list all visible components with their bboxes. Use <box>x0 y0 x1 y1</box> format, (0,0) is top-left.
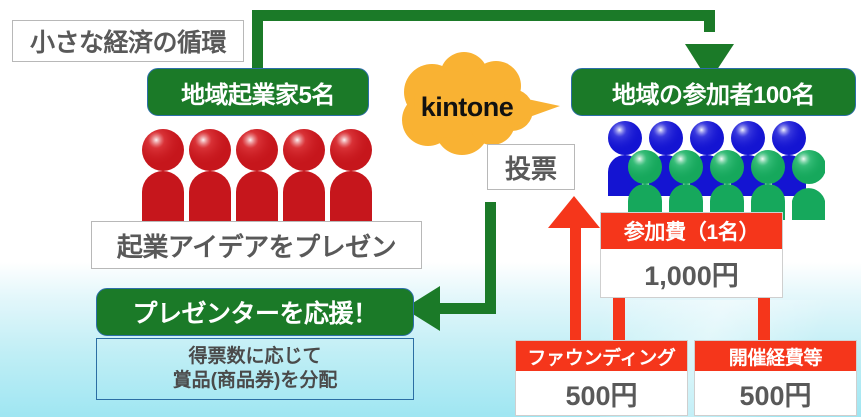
operating-cost-value: 500円 <box>739 374 811 413</box>
person-icon <box>330 129 372 223</box>
flow-arrow-top-horizontal <box>252 10 715 21</box>
prize-line-1: 得票数に応じて <box>188 345 321 369</box>
entry-fee-body: 1,000円 <box>601 249 782 297</box>
people-group-participants <box>607 120 825 220</box>
funding-card: ファウンディング 500円 <box>515 340 688 416</box>
node-entrepreneurs-label: 地域起業家5名 <box>181 75 335 110</box>
pitch-label: 起業アイデアをプレゼン <box>117 227 396 264</box>
funding-body: 500円 <box>516 371 687 415</box>
fee-split-connector-left <box>613 298 625 343</box>
funding-arrow-shaft <box>570 220 581 346</box>
vote-arrow-horizontal <box>432 303 496 314</box>
diagram-title-box: 小さな経済の循環 <box>12 20 244 62</box>
fee-split-connector-right <box>758 298 770 343</box>
node-participants-label: 地域の参加者100名 <box>612 75 815 110</box>
funding-header-label: ファウンディング <box>527 343 675 370</box>
vote-label: 投票 <box>505 149 557 186</box>
operating-cost-header: 開催経費等 <box>695 341 856 371</box>
people-group-entrepreneurs <box>140 128 375 223</box>
prize-line-2: 賞品(商品券)を分配 <box>173 369 338 393</box>
entry-fee-value: 1,000円 <box>644 254 739 293</box>
operating-cost-card: 開催経費等 500円 <box>694 340 857 416</box>
flow-arrow-top-descender <box>704 10 715 32</box>
person-icon <box>189 129 231 223</box>
entry-fee-header: 参加費（1名） <box>601 213 782 249</box>
person-icon <box>283 129 325 223</box>
entry-fee-header-label: 参加費（1名） <box>624 216 760 246</box>
diagram-canvas: 小さな経済の循環 地域起業家5名 <box>0 0 861 417</box>
funding-value: 500円 <box>565 374 637 413</box>
entry-fee-card: 参加費（1名） 1,000円 <box>600 212 783 298</box>
node-participants[interactable]: 地域の参加者100名 <box>571 68 856 116</box>
page-title: 小さな経済の循環 <box>30 23 226 59</box>
person-icon <box>142 129 184 223</box>
vote-box: 投票 <box>487 144 575 190</box>
vote-arrow-vertical <box>485 202 496 314</box>
support-button[interactable]: プレゼンターを応援！ <box>96 288 414 336</box>
operating-cost-body: 500円 <box>695 371 856 415</box>
funding-header: ファウンディング <box>516 341 687 371</box>
support-label: プレゼンターを応援！ <box>132 294 377 330</box>
pitch-box: 起業アイデアをプレゼン <box>91 221 422 269</box>
operating-cost-header-label: 開催経費等 <box>729 343 823 370</box>
person-icon <box>236 129 278 223</box>
prize-box: 得票数に応じて 賞品(商品券)を分配 <box>96 338 414 400</box>
node-entrepreneurs[interactable]: 地域起業家5名 <box>147 68 369 116</box>
